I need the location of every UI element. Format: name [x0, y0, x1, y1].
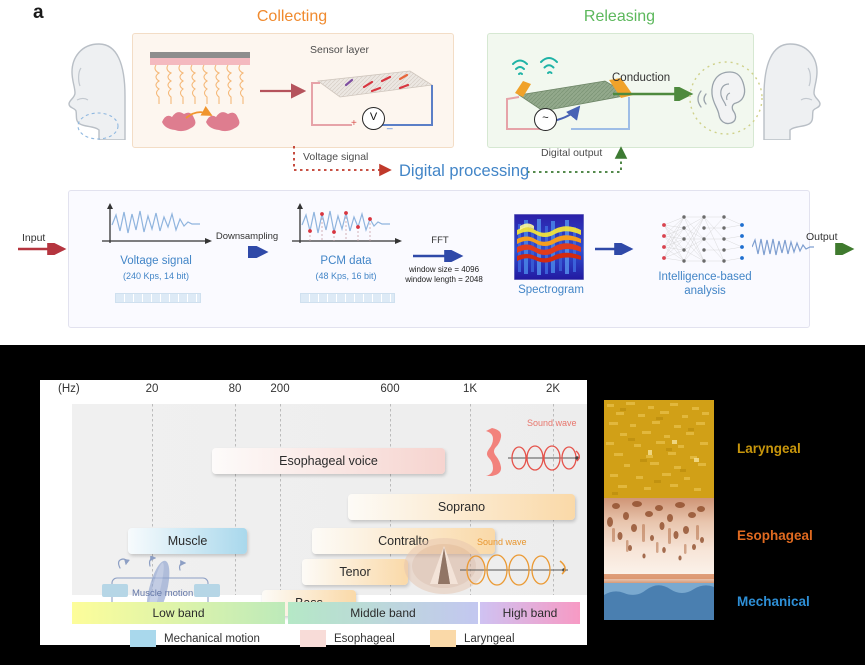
- output-arrow: [806, 243, 864, 255]
- voltage-signal-plot: [100, 203, 212, 249]
- head-right-icon: [762, 38, 834, 140]
- legend-swatch-mechanical: [130, 630, 156, 647]
- bar-muscle[interactable]: Muscle: [128, 528, 247, 554]
- spectrogram-image: [514, 214, 584, 280]
- legend-label-laryngeal: Laryngeal: [464, 630, 515, 648]
- soundwave-label-laryngeal: Sound wave: [477, 537, 527, 547]
- frequency-axis: (Hz) 20 80 200 600 1K 2K: [40, 380, 587, 404]
- esophagus-soundwave-illustration: [484, 424, 589, 488]
- tick-label-600: 600: [380, 383, 399, 395]
- output-waveform: [752, 236, 814, 258]
- fft-window-size: window size = 4096: [405, 265, 483, 275]
- analysis-label: Intelligence-based analysis: [630, 270, 780, 299]
- tissue-layer-esophageal: [604, 498, 714, 583]
- chart-legend: Mechanical motion Esophageal Laryngeal: [40, 630, 587, 650]
- gridline-80: [235, 404, 236, 595]
- tissue-layer-laryngeal: [604, 400, 714, 498]
- pipeline-step-2-bitstrip: [300, 293, 395, 303]
- spectrogram-to-nn-arrow: [595, 243, 643, 255]
- soundwave-label-esophageal: Sound wave: [527, 418, 577, 428]
- pcm-data-plot: [290, 203, 402, 249]
- sensor-film-circuit: [260, 55, 440, 140]
- tick-label-20: 20: [146, 383, 159, 395]
- pipeline-step-1-sub: (240 Kps, 14 bit): [106, 271, 206, 281]
- fft-arrow: [413, 250, 473, 262]
- pipeline-step-2-label: PCM data: [296, 255, 396, 267]
- neural-network-diagram: [658, 211, 750, 271]
- band-middle[interactable]: Middle band: [288, 602, 478, 624]
- voltage-signal-route-label: Voltage signal: [303, 151, 368, 163]
- legend-item-esophageal: Esophageal: [300, 630, 430, 648]
- bar-tenor[interactable]: Tenor: [302, 559, 408, 585]
- legend-label-mechanical: Mechanical motion: [164, 630, 260, 648]
- tissue-cross-section-image: [604, 400, 714, 620]
- fft-window-length: window length = 2048: [405, 275, 483, 285]
- figure-root: a Collecting Releasing Sensor layer: [0, 0, 865, 665]
- pipeline-output-label: Output: [806, 231, 838, 243]
- pipeline-step-1-label: Voltage signal: [106, 255, 206, 267]
- tick-label-200: 200: [270, 383, 289, 395]
- legend-item-laryngeal: Laryngeal: [430, 630, 560, 648]
- downsampling-arrow: [218, 246, 278, 258]
- spectrogram-label: Spectrogram: [496, 284, 606, 296]
- panel-a: a Collecting Releasing Sensor layer: [0, 0, 865, 345]
- digital-processing-label: Digital processing: [399, 162, 529, 181]
- fft-arrow-label: FFT: [415, 235, 465, 246]
- tissue-layer-mechanical: [604, 583, 714, 620]
- input-arrow: [18, 243, 76, 255]
- pipeline-step-1-bitstrip: [115, 293, 201, 303]
- legend-label-esophageal: Esophageal: [334, 630, 395, 648]
- pipeline-step-2-sub: (48 Kps, 16 bit): [296, 271, 396, 281]
- panel-label: a: [33, 2, 44, 24]
- bar-soprano[interactable]: Soprano: [348, 494, 575, 520]
- legend-swatch-laryngeal: [430, 630, 456, 647]
- analysis-label-line1: Intelligence-based: [658, 271, 751, 283]
- band-high[interactable]: High band: [480, 602, 580, 624]
- ear-icon: [686, 58, 766, 138]
- frequency-chart-panel: (Hz) 20 80 200 600 1K 2K Esophageal voic…: [40, 380, 587, 645]
- analysis-label-line2: analysis: [684, 285, 726, 297]
- gridline-200: [280, 404, 281, 595]
- skin-tissue-diagram: [146, 48, 256, 138]
- digital-output-route-label: Digital output: [541, 147, 602, 159]
- legend-item-mechanical: Mechanical motion: [130, 630, 300, 648]
- ac-source-icon: ~: [534, 108, 557, 131]
- tissue-label-mechanical: Mechanical: [737, 594, 810, 609]
- downsampling-arrow-label: Downsampling: [212, 231, 282, 242]
- band-low[interactable]: Low band: [72, 602, 285, 624]
- legend-swatch-esophageal: [300, 630, 326, 647]
- conduction-label: Conduction: [612, 72, 670, 84]
- frequency-band-row: Low band Middle band High band: [72, 602, 587, 624]
- head-left-icon: [55, 38, 127, 140]
- bar-esophageal-voice[interactable]: Esophageal voice: [212, 448, 445, 474]
- collecting-title: Collecting: [132, 8, 452, 26]
- releasing-title: Releasing: [487, 8, 752, 26]
- chart-plot-area: Esophageal voice Soprano Muscle Contralt…: [72, 404, 587, 595]
- axis-unit-label: (Hz): [58, 383, 80, 395]
- tissue-label-esophageal: Esophageal: [737, 528, 813, 543]
- polarity-plus: +: [351, 118, 357, 129]
- tissue-label-laryngeal: Laryngeal: [737, 441, 801, 456]
- tick-label-1k: 1K: [463, 383, 477, 395]
- svg-text:Muscle motion: Muscle motion: [132, 588, 193, 599]
- tick-label-2k: 2K: [546, 383, 560, 395]
- voltmeter-icon: V: [362, 107, 385, 130]
- tick-label-80: 80: [229, 383, 242, 395]
- polarity-minus: _: [387, 119, 393, 130]
